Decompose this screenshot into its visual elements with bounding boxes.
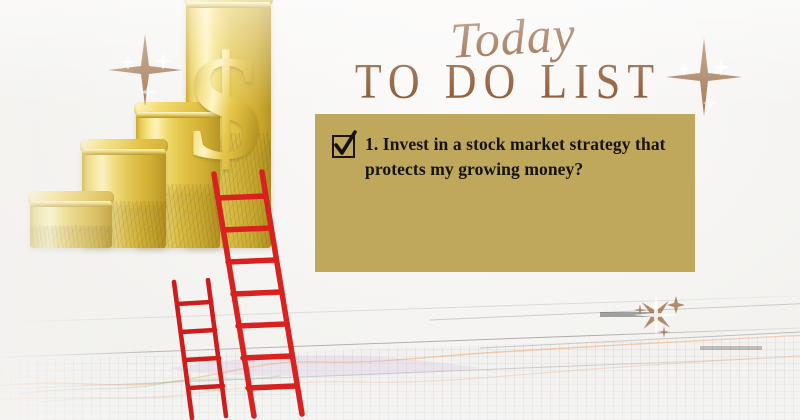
checkbox-checked-icon[interactable] — [332, 135, 355, 158]
page-title: TO DO LIST — [318, 54, 698, 110]
todo-list-box: 1. Invest in a stock market strategy tha… — [315, 114, 695, 272]
ladder-small-icon — [162, 278, 236, 420]
dollar-sign-icon: $ — [188, 42, 262, 174]
todo-list-item[interactable]: 1. Invest in a stock market strategy tha… — [332, 132, 671, 182]
todo-item-text: 1. Invest in a stock market strategy tha… — [365, 132, 671, 182]
poster-canvas: $ $ — [0, 0, 800, 420]
gold-bar-1-lip — [30, 201, 112, 207]
gold-bar-2-lip — [82, 149, 166, 155]
gold-bar-4-lip — [186, 2, 271, 8]
